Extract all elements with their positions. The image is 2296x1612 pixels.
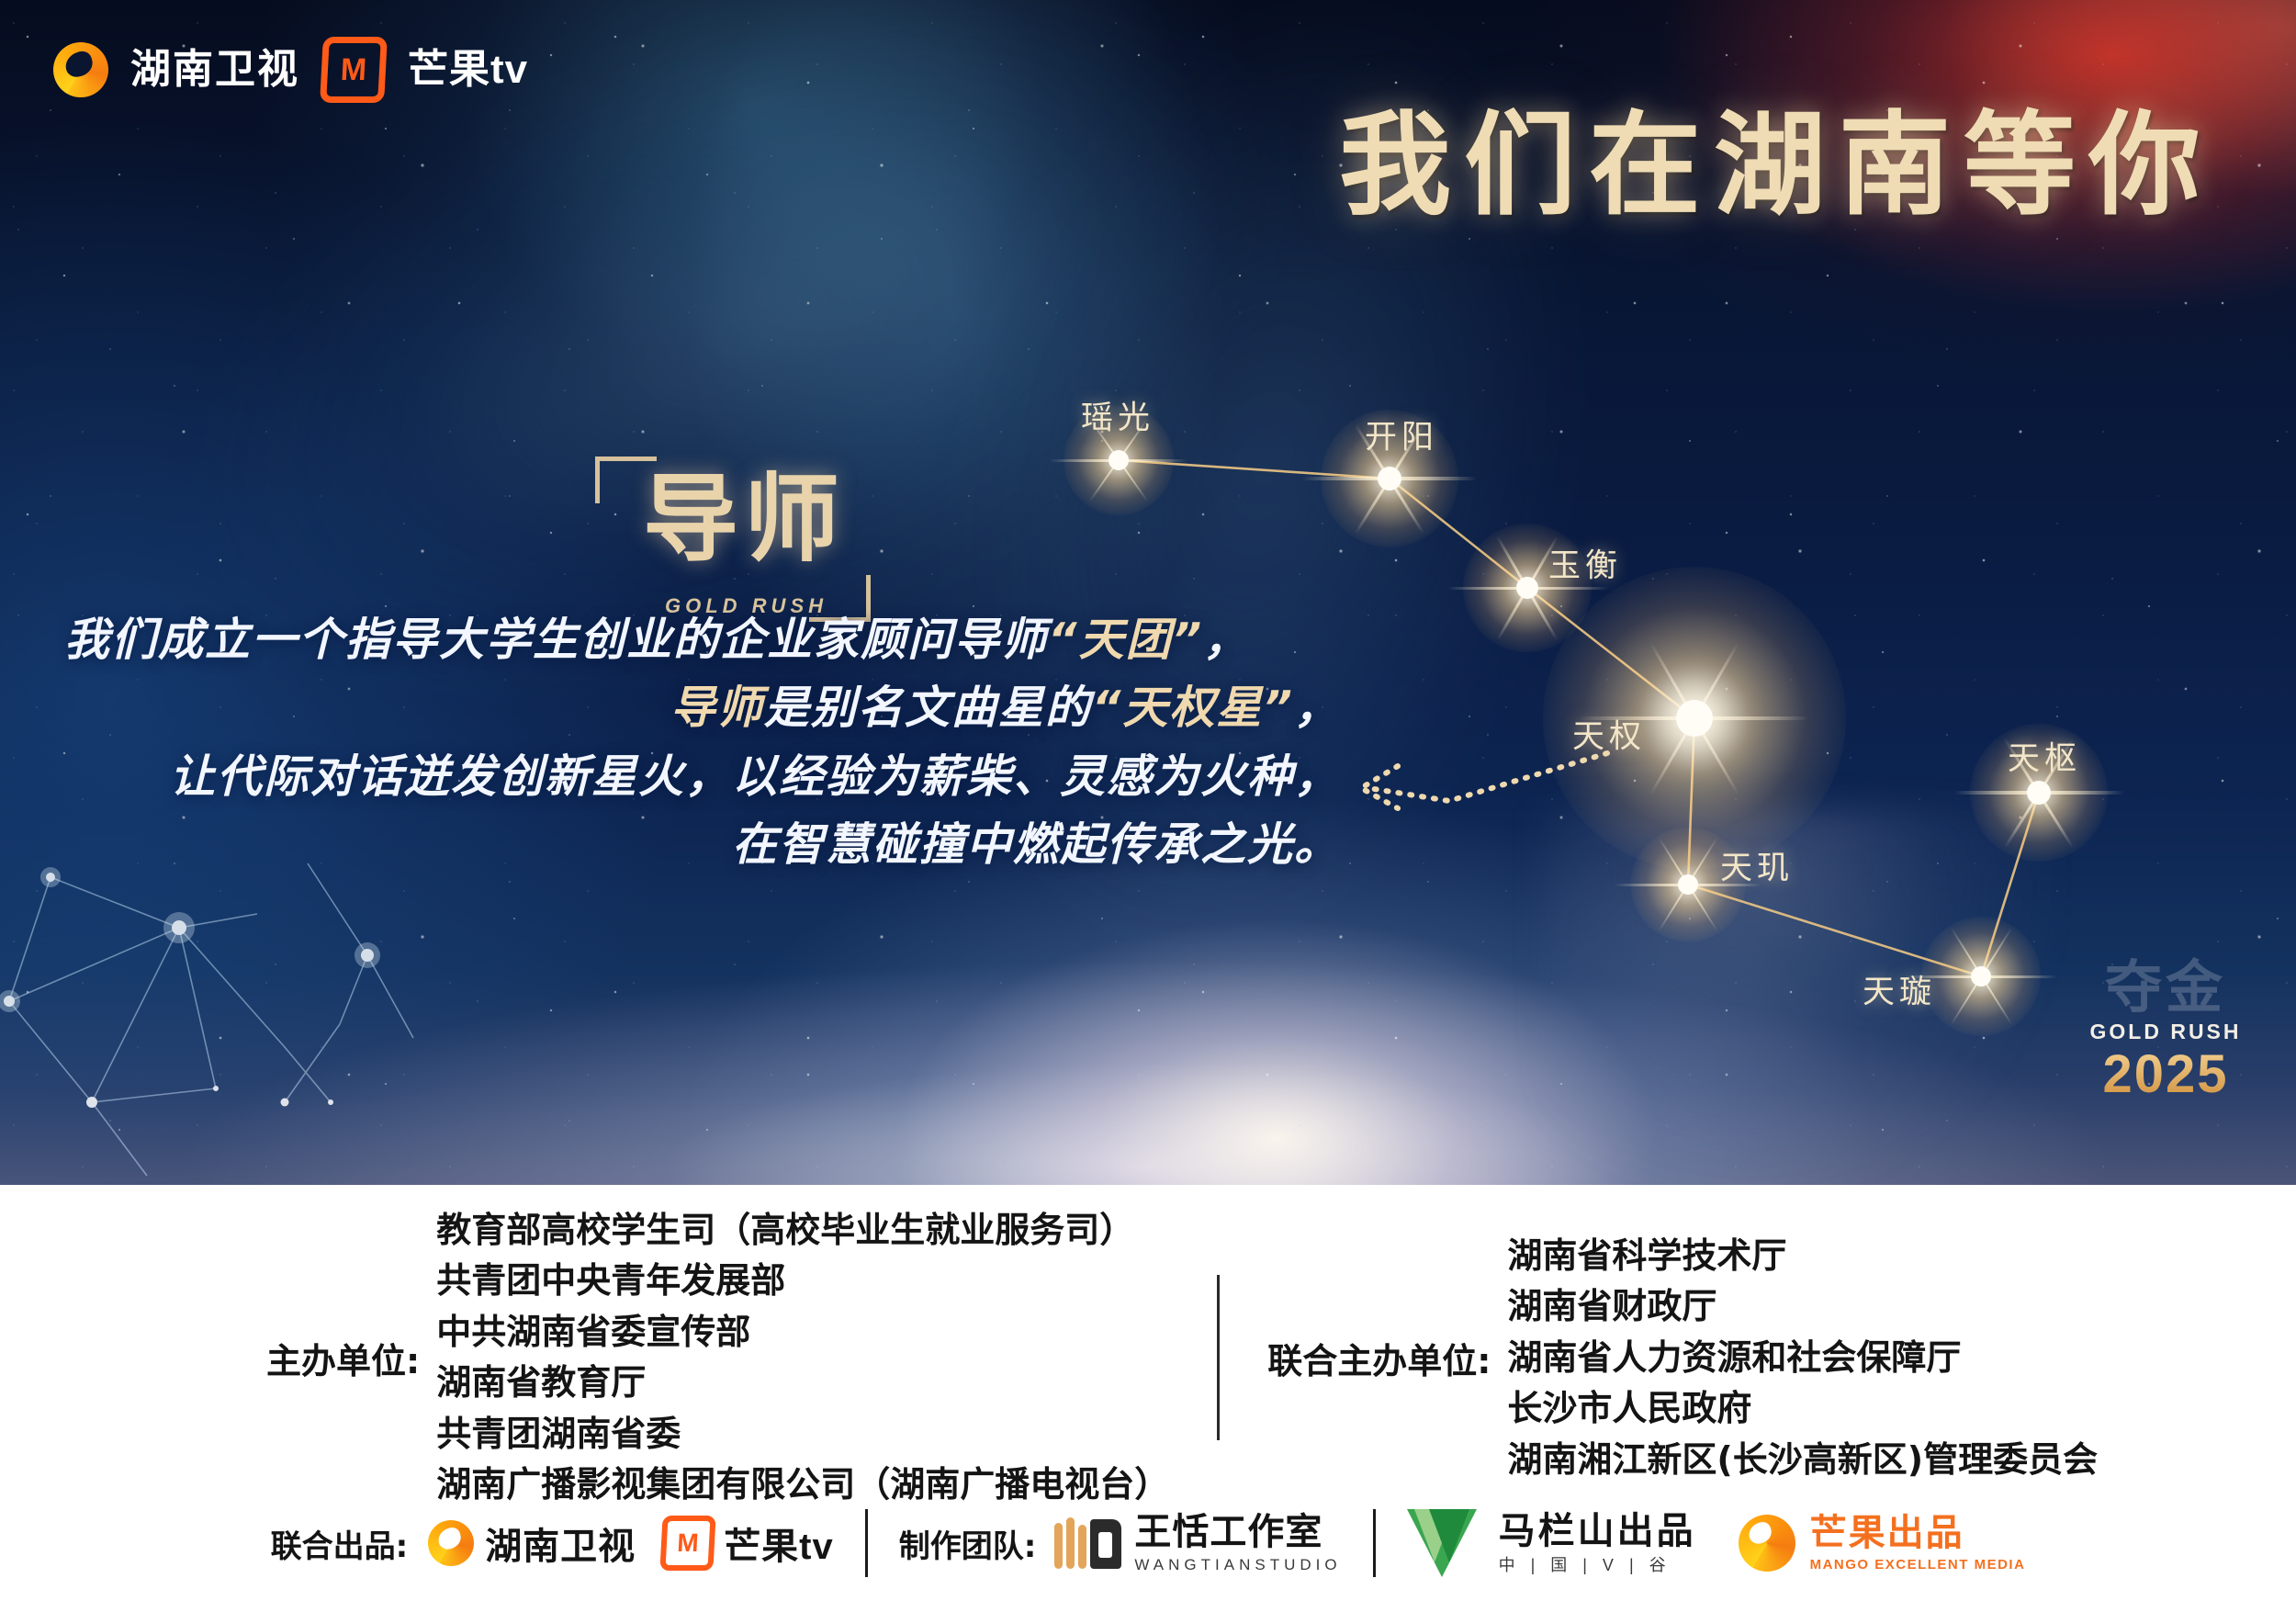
copy-line-2: 导师是别名文曲星的“天权星”， xyxy=(64,674,1341,742)
badge-title-en: GOLD RUSH xyxy=(2074,1020,2257,1044)
mango-tv-m-icon: M xyxy=(320,37,388,103)
hunan-tv-wordmark: 湖南卫视 xyxy=(130,50,299,90)
host-item: 教育部高校学生司（高校毕业生就业服务司） xyxy=(436,1205,1169,1256)
host-item: 共青团中央青年发展部 xyxy=(436,1256,1169,1306)
hunan-tv-mango-icon xyxy=(53,42,108,97)
copy-line-1a: 我们成立一个指导大学生创业的企业家顾问导师 xyxy=(64,614,1048,666)
copy-line-1-gold: “天团” xyxy=(1048,614,1203,666)
cohost-item: 湖南省财政厅 xyxy=(1507,1281,2098,1332)
host-list: 教育部高校学生司（高校毕业生就业服务司） 共青团中央青年发展部 中共湖南省委宣传… xyxy=(436,1205,1169,1511)
copy-line-4: 在智慧碰撞中燃起传承之光。 xyxy=(64,811,1341,879)
host-item: 湖南省教育厅 xyxy=(436,1358,1169,1408)
brand-bar: 湖南卫视 M 芒果tv xyxy=(53,37,528,103)
footer-hunan-wordmark: 湖南卫视 xyxy=(485,1516,636,1570)
host-item: 中共湖南省委宣传部 xyxy=(436,1307,1169,1358)
footer-panel: 主办单位: 教育部高校学生司（高校毕业生就业服务司） 共青团中央青年发展部 中共… xyxy=(0,1185,2296,1612)
mango-tv-wordmark: 芒果tv xyxy=(408,50,528,90)
malanshan-cn: 马栏山出品 xyxy=(1499,1513,1696,1550)
copy-line-1: 我们成立一个指导大学生创业的企业家顾问导师“天团”， xyxy=(64,606,1341,674)
wangtian-studio-icon xyxy=(1054,1517,1121,1569)
cohost-list: 湖南省科学技术厅 湖南省财政厅 湖南省人力资源和社会保障厅 长沙市人民政府 湖南… xyxy=(1507,1231,2098,1485)
team-label: 制作团队: xyxy=(899,1521,1037,1566)
host-label: 主办单位: xyxy=(266,1333,420,1383)
mango-excellent-wordmark: 芒果出品 MANGO EXCELLENT MEDIA xyxy=(1810,1515,2026,1572)
copy-line-2-gold-b: “天权星” xyxy=(1092,682,1294,734)
mango-excellent-icon xyxy=(1739,1515,1795,1572)
section-title-block: 导师 GOLD RUSH xyxy=(595,457,871,631)
gold-rush-badge: 夺金 GOLD RUSH 2025 xyxy=(2074,957,2257,1101)
copy-line-3: 让代际对话迸发创新星火，以经验为薪柴、灵感为火种， xyxy=(64,743,1341,811)
planet-limb-glow xyxy=(1543,808,2057,1185)
organizers-divider xyxy=(1217,1275,1220,1440)
wangtian-studio-wordmark: 王恬工作室 WANGTIANSTUDIO xyxy=(1134,1514,1341,1573)
cohost-item: 长沙市人民政府 xyxy=(1507,1383,2098,1434)
cohost-block: 联合主办单位: 湖南省科学技术厅 湖南省财政厅 湖南省人力资源和社会保障厅 长沙… xyxy=(1267,1231,2098,1485)
network-nodes-graphic xyxy=(0,827,496,1185)
footer-mango-m-icon: M xyxy=(660,1516,716,1571)
team-name-en: WANGTIANSTUDIO xyxy=(1134,1557,1341,1573)
poster-root: 瑶光 开阳 玉衡 天权 天枢 天玑 天璇 湖南卫视 M 芒果tv 我们在湖南等你 xyxy=(0,0,2296,1612)
page-title: 我们在湖南等你 xyxy=(1339,108,2213,220)
cohost-item: 湖南省科学技术厅 xyxy=(1507,1231,2098,1281)
host-block: 主办单位: 教育部高校学生司（高校毕业生就业服务司） 共青团中央青年发展部 中共… xyxy=(266,1205,1169,1511)
cohost-item: 湖南省人力资源和社会保障厅 xyxy=(1507,1333,2098,1383)
section-title-cn: 导师 xyxy=(643,471,845,567)
cohost-item: 湖南湘江新区(长沙高新区)管理委员会 xyxy=(1507,1435,2098,1485)
team-name-cn: 王恬工作室 xyxy=(1134,1514,1341,1550)
footer-logo-row: 联合出品: 湖南卫视 M 芒果tv 制作团队: 王恬工作室 WANGTIANST… xyxy=(0,1488,2296,1598)
footer-divider-1 xyxy=(865,1509,868,1577)
mango-excellent-cn: 芒果出品 xyxy=(1810,1515,2026,1551)
badge-year: 2025 xyxy=(2074,1048,2257,1101)
organizers-section: 主办单位: 教育部高校学生司（高校毕业生就业服务司） 共青团中央青年发展部 中共… xyxy=(0,1205,2296,1511)
malanshan-v-icon xyxy=(1407,1509,1477,1577)
copy-line-2b: ， xyxy=(1294,682,1341,734)
copy-line-2a: 是别名文曲星的 xyxy=(764,682,1092,734)
malanshan-sub: 中 | 国 | V | 谷 xyxy=(1499,1557,1696,1573)
cohost-label: 联合主办单位: xyxy=(1267,1333,1491,1383)
host-item: 共青团湖南省委 xyxy=(436,1409,1169,1460)
badge-title-cn: 夺金 xyxy=(2074,957,2257,1014)
footer-hunan-mango-icon xyxy=(428,1520,474,1566)
copy-line-2-gold-a: 导师 xyxy=(670,682,764,734)
space-background: 瑶光 开阳 玉衡 天权 天枢 天玑 天璇 湖南卫视 M 芒果tv 我们在湖南等你 xyxy=(0,0,2296,1185)
coproduce-label: 联合出品: xyxy=(271,1521,409,1566)
malanshan-wordmark: 马栏山出品 中 | 国 | V | 谷 xyxy=(1499,1513,1696,1573)
footer-divider-2 xyxy=(1373,1509,1376,1577)
footer-mangotv-wordmark: 芒果tv xyxy=(724,1516,834,1570)
copy-line-1b: ， xyxy=(1203,614,1250,666)
mango-excellent-en: MANGO EXCELLENT MEDIA xyxy=(1810,1558,2026,1572)
body-copy: 我们成立一个指导大学生创业的企业家顾问导师“天团”， 导师是别名文曲星的“天权星… xyxy=(64,606,1341,880)
